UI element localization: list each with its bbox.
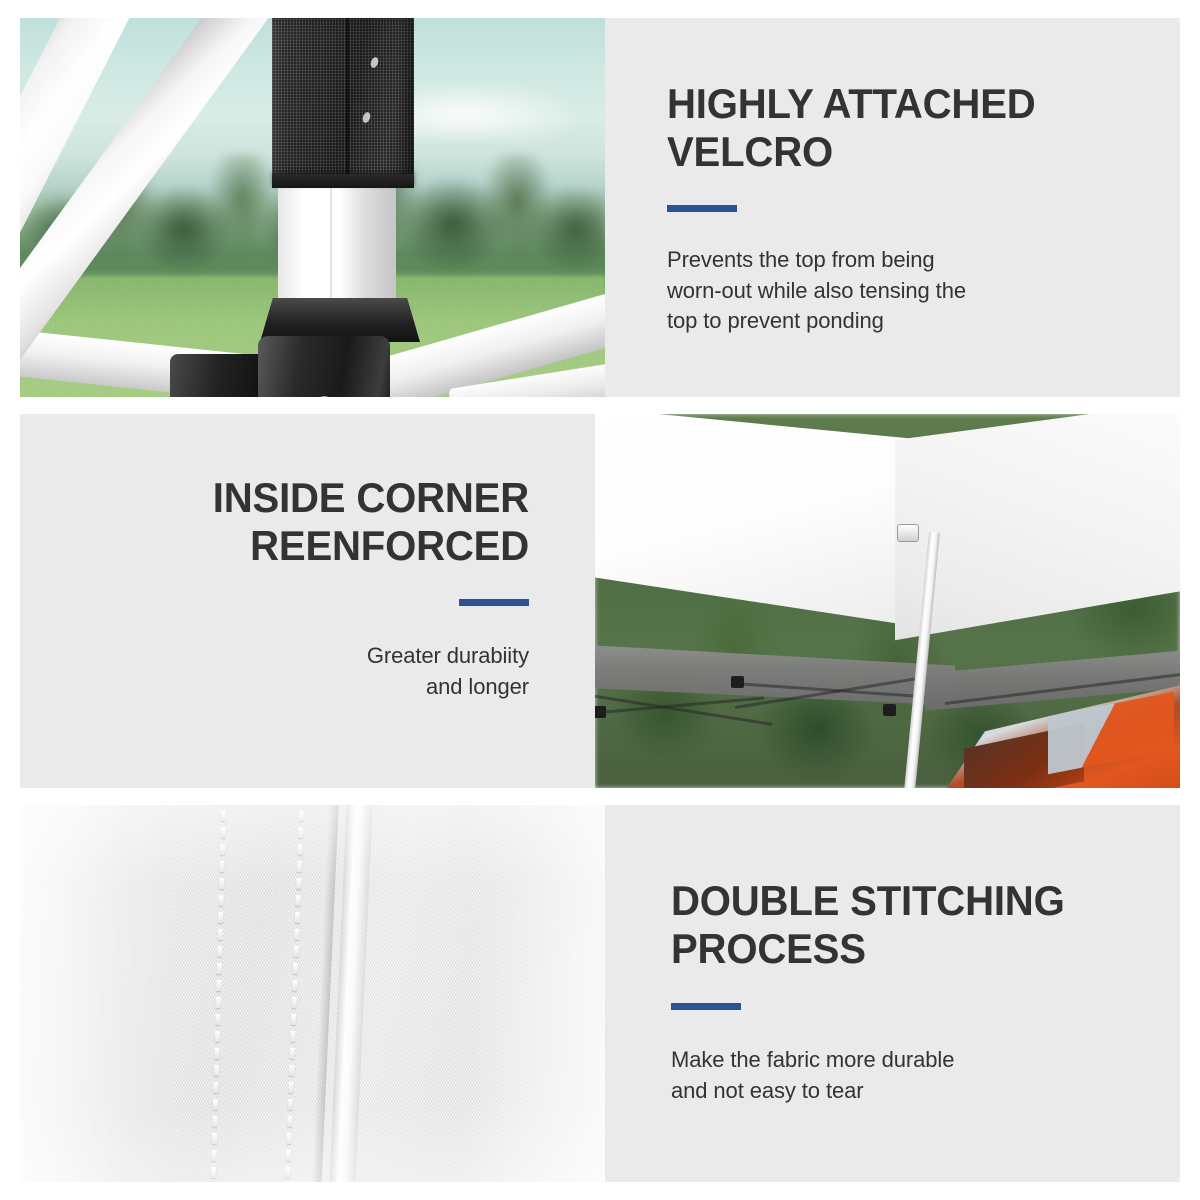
panel-body-text: Greater durabiity and longer <box>60 641 529 702</box>
velcro-strap <box>272 18 414 188</box>
panel-heading: DOUBLE STITCHING PROCESS <box>671 877 1157 973</box>
panel-heading: HIGHLY ATTACHED VELCRO <box>667 80 1157 176</box>
frame-clip <box>731 676 744 688</box>
frame-clip <box>883 704 896 716</box>
velcro-fleck <box>361 111 371 124</box>
corner-reinforcement-clip <box>897 524 919 542</box>
corner-bracket-body <box>258 336 390 397</box>
inside-corner-text-panel: INSIDE CORNER REENFORCED Greater durabii… <box>20 414 595 788</box>
feature-panel-double-stitching: DOUBLE STITCHING PROCESS Make the fabric… <box>20 805 1180 1182</box>
feature-panel-inside-corner: INSIDE CORNER REENFORCED Greater durabii… <box>20 414 1180 788</box>
velcro-text-panel: HIGHLY ATTACHED VELCRO Prevents the top … <box>605 18 1180 397</box>
fabric-stitching-photo <box>20 805 605 1182</box>
frame-clip <box>595 706 606 718</box>
velcro-fleck <box>370 56 380 69</box>
accent-bar <box>459 599 529 606</box>
velcro-hem <box>272 174 414 188</box>
accent-bar <box>671 1003 741 1010</box>
double-stitching-text-panel: DOUBLE STITCHING PROCESS Make the fabric… <box>605 805 1180 1182</box>
panel-body-text: Prevents the top from being worn-out whi… <box>667 245 1150 337</box>
panel-body-text: Make the fabric more durable and not eas… <box>671 1045 1150 1106</box>
canopy-corner-photo <box>595 414 1180 788</box>
velcro-seam <box>346 18 349 188</box>
product-feature-infographic: HIGHLY ATTACHED VELCRO Prevents the top … <box>0 0 1200 1200</box>
feature-panel-velcro: HIGHLY ATTACHED VELCRO Prevents the top … <box>20 18 1180 397</box>
velcro-frame-photo <box>20 18 605 397</box>
corner-bracket-side <box>170 354 262 397</box>
white-square-post <box>278 170 396 305</box>
accent-bar <box>667 205 737 212</box>
panel-heading: INSIDE CORNER REENFORCED <box>43 474 529 570</box>
photo-vignette <box>20 805 605 1182</box>
